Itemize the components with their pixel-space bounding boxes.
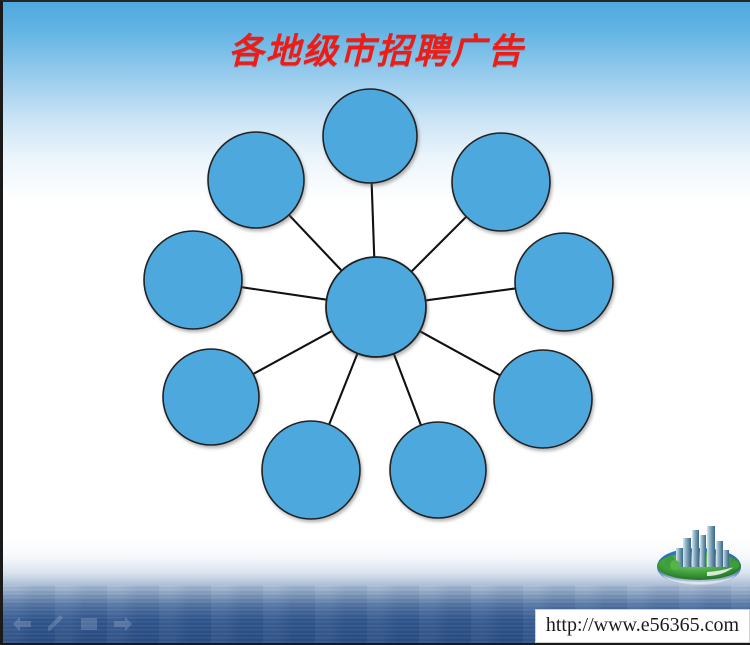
hub-and-spoke-diagram [3, 2, 750, 645]
node-bottom-left[interactable] [262, 421, 360, 519]
circle-left[interactable] [144, 231, 242, 329]
spoke-line-bottom-left [329, 353, 358, 426]
circle-upper-left[interactable] [208, 132, 304, 228]
node-circles-group [144, 89, 613, 519]
spoke-line-bottom-right [393, 353, 421, 426]
node-lower-left[interactable] [163, 349, 259, 445]
circle-upper-right[interactable] [452, 133, 550, 231]
circle-bottom-left[interactable] [262, 421, 360, 519]
circle-lower-right[interactable] [494, 350, 592, 448]
center-circle[interactable] [326, 257, 426, 357]
spoke-line-top [372, 182, 375, 258]
watermark-url: http://www.e56365.com [535, 609, 750, 643]
circle-lower-left[interactable] [163, 349, 259, 445]
slide-canvas: 各地级市招聘广告 [0, 0, 750, 645]
node-left[interactable] [144, 231, 242, 329]
node-top[interactable] [323, 89, 417, 183]
node-upper-left[interactable] [208, 132, 304, 228]
circle-bottom-right[interactable] [390, 422, 486, 518]
node-lower-right[interactable] [494, 350, 592, 448]
spoke-line-lower-right [419, 331, 501, 376]
node-right[interactable] [515, 233, 613, 331]
spoke-line-upper-left [288, 214, 342, 271]
spoke-line-lower-left [252, 330, 333, 374]
circle-top[interactable] [323, 89, 417, 183]
circle-right[interactable] [515, 233, 613, 331]
globe-city-logo [651, 521, 747, 603]
node-bottom-right[interactable] [390, 422, 486, 518]
spoke-line-right [425, 288, 517, 300]
spoke-line-left [240, 287, 327, 300]
node-center[interactable] [326, 257, 426, 357]
spoke-line-upper-right [411, 216, 467, 272]
node-upper-right[interactable] [452, 133, 550, 231]
